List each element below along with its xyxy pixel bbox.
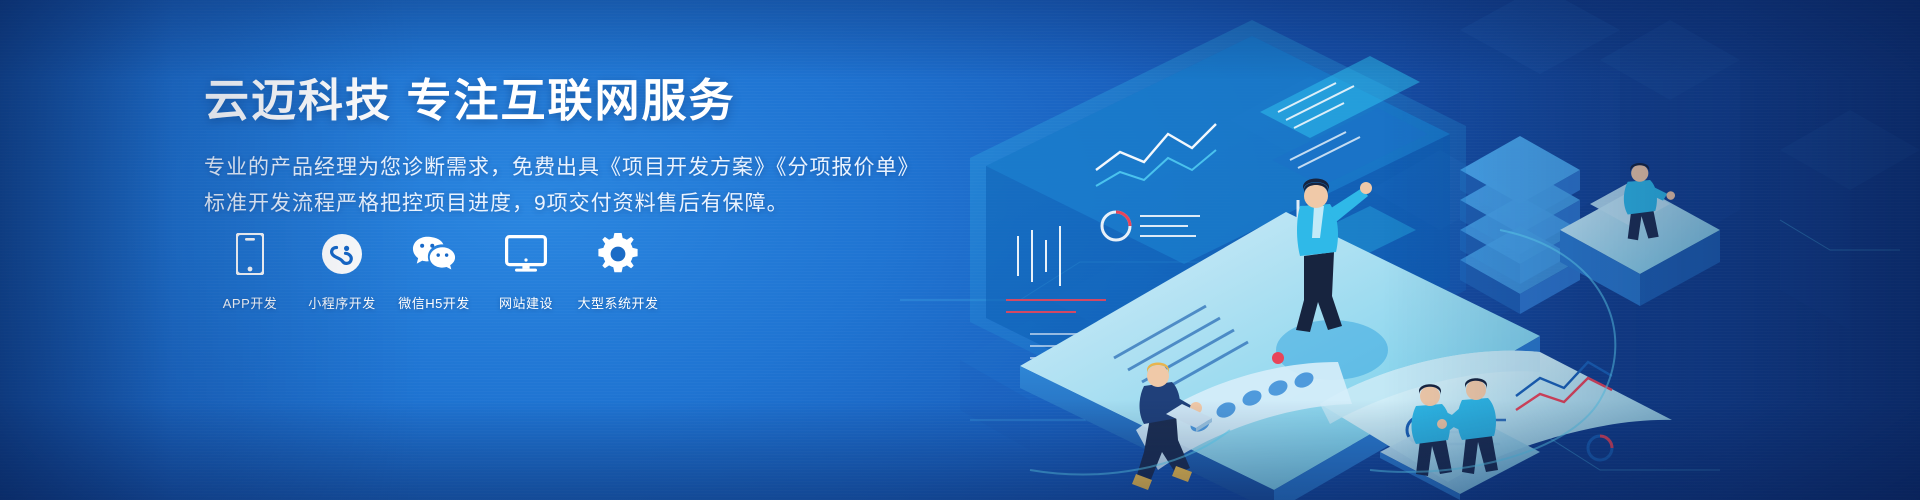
isometric-data-dashboard-illustration: [900, 0, 1920, 500]
tablet-platform: [1020, 212, 1540, 500]
service-item-large-system[interactable]: 大型系统开发: [572, 232, 664, 312]
service-label-wechat-h5: 微信H5开发: [398, 293, 470, 312]
service-list: APP开发 小程序开发: [204, 232, 664, 312]
mobile-phone-icon: [228, 232, 272, 276]
donut-chart: [1102, 212, 1130, 240]
accent-red-lines: [1006, 300, 1106, 312]
monitor-icon: [504, 232, 548, 276]
person-sitting-laptop: [1132, 363, 1212, 491]
hero-subtitle: 专业的产品经理为您诊断需求，免费出具《项目开发方案》《分项报价单》 标准开发流程…: [204, 150, 964, 222]
person-group-left: [1380, 378, 1540, 500]
wechat-icon: [412, 232, 456, 276]
person-standing-pointing: [1296, 179, 1372, 333]
hero-title: 云迈科技 专注互联网服务: [204, 74, 964, 128]
service-item-app[interactable]: APP开发: [204, 232, 296, 312]
service-item-website[interactable]: 网站建设: [480, 232, 572, 312]
hero-subtitle-line-2: 标准开发流程严格把控项目进度，9项交付资料售后有保障。: [204, 186, 964, 222]
service-item-mini-program[interactable]: 小程序开发: [296, 232, 388, 312]
dashboard-screen: [978, 20, 1466, 500]
podium-right: [1560, 182, 1720, 306]
circuit-lines: [900, 220, 1900, 470]
city-block-shapes: [960, 0, 1920, 450]
sheet-charts: [1407, 362, 1612, 460]
service-label-app: APP开发: [223, 293, 278, 312]
service-label-mini-program: 小程序开发: [308, 293, 376, 312]
person-group-right: [1624, 163, 1675, 240]
service-label-website: 网站建设: [499, 293, 553, 312]
server-stack: [1460, 136, 1580, 314]
hero-subtitle-line-1: 专业的产品经理为您诊断需求，免费出具《项目开发方案》《分项报价单》: [204, 150, 964, 186]
line-chart: [1096, 124, 1216, 186]
glow-curves: [1030, 230, 1615, 474]
dashboard-panel: [970, 20, 1466, 428]
service-label-large-system: 大型系统开发: [577, 293, 658, 312]
service-item-wechat-h5[interactable]: 微信H5开发: [388, 232, 480, 312]
hero-banner: 云迈科技 专注互联网服务 专业的产品经理为您诊断需求，免费出具《项目开发方案》《…: [0, 0, 1920, 500]
mini-program-icon: [320, 232, 364, 276]
report-sheet: [1320, 351, 1672, 482]
hero-copy: 云迈科技 专注互联网服务 专业的产品经理为您诊断需求，免费出具《项目开发方案》《…: [204, 74, 964, 222]
pill-rows-strip: [1136, 352, 1352, 470]
gear-icon: [596, 232, 640, 276]
